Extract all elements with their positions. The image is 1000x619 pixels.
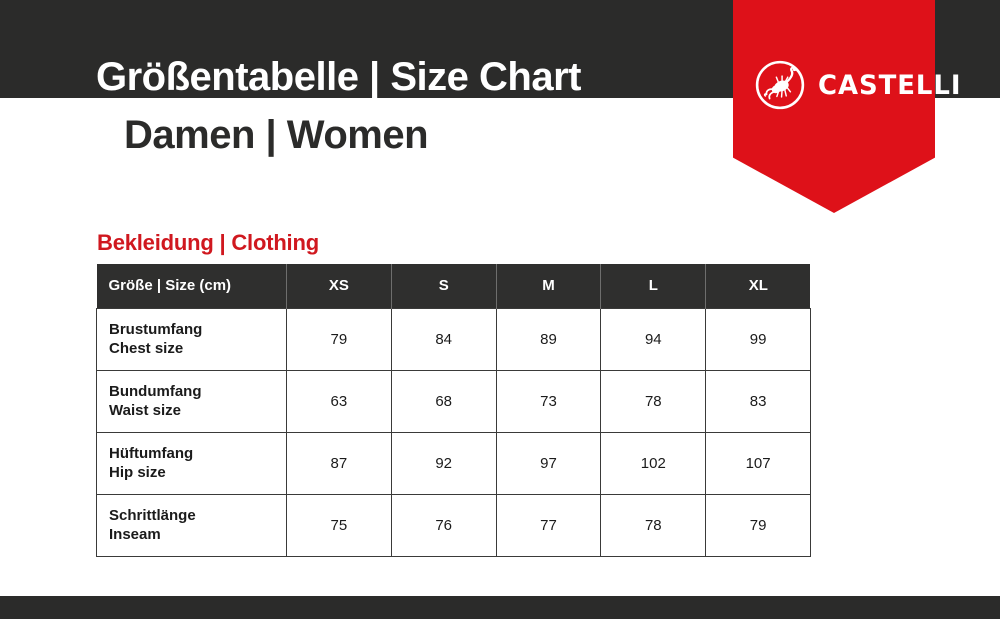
brand-wordmark: CASTELLI [818,72,962,99]
row-label-waist: Bundumfang Waist size [97,370,287,432]
row-label-en: Hip size [109,463,286,482]
cell-chest-l: 94 [601,308,706,370]
row-label-en: Chest size [109,339,286,358]
cell-chest-xl: 99 [706,308,811,370]
scorpion-circle-icon [754,59,806,111]
cell-inseam-l: 78 [601,494,706,556]
row-label-hip: Hüftumfang Hip size [97,432,287,494]
page-title: Größentabelle | Size Chart [96,55,581,100]
row-label-de: Hüftumfang [109,444,286,463]
table-row: Bundumfang Waist size 63 68 73 78 83 [97,370,811,432]
column-header-xs: XS [287,264,392,308]
cell-waist-s: 68 [391,370,496,432]
column-header-l: L [601,264,706,308]
table-body: Brustumfang Chest size 79 84 89 94 99 Bu… [97,308,811,556]
cell-chest-xs: 79 [287,308,392,370]
cell-inseam-s: 76 [391,494,496,556]
size-table: Größe | Size (cm) XS S M L XL Brustumfan… [96,264,811,557]
table-row: Brustumfang Chest size 79 84 89 94 99 [97,308,811,370]
row-label-de: Brustumfang [109,320,286,339]
cell-hip-xs: 87 [287,432,392,494]
row-label-chest: Brustumfang Chest size [97,308,287,370]
cell-inseam-xs: 75 [287,494,392,556]
cell-chest-s: 84 [391,308,496,370]
cell-waist-l: 78 [601,370,706,432]
column-header-measure: Größe | Size (cm) [97,264,287,308]
row-label-de: Bundumfang [109,382,286,401]
table-header: Größe | Size (cm) XS S M L XL [97,264,811,308]
table-header-row: Größe | Size (cm) XS S M L XL [97,264,811,308]
row-label-inseam: Schrittlänge Inseam [97,494,287,556]
column-header-s: S [391,264,496,308]
brand-logo: CASTELLI [733,57,935,113]
row-label-en: Inseam [109,525,286,544]
cell-hip-s: 92 [391,432,496,494]
size-table-container: Größe | Size (cm) XS S M L XL Brustumfan… [96,264,810,557]
cell-hip-l: 102 [601,432,706,494]
table-row: Schrittlänge Inseam 75 76 77 78 79 [97,494,811,556]
cell-waist-xs: 63 [287,370,392,432]
cell-hip-m: 97 [496,432,601,494]
cell-waist-xl: 83 [706,370,811,432]
cell-inseam-xl: 79 [706,494,811,556]
size-chart-page: Größentabelle | Size Chart Damen | Women [0,0,1000,619]
row-label-de: Schrittlänge [109,506,286,525]
table-row: Hüftumfang Hip size 87 92 97 102 107 [97,432,811,494]
column-header-xl: XL [706,264,811,308]
cell-waist-m: 73 [496,370,601,432]
section-heading-clothing: Bekleidung | Clothing [97,230,319,256]
cell-hip-xl: 107 [706,432,811,494]
row-label-en: Waist size [109,401,286,420]
column-header-m: M [496,264,601,308]
cell-chest-m: 89 [496,308,601,370]
cell-inseam-m: 77 [496,494,601,556]
footer-band [0,596,1000,619]
page-subtitle: Damen | Women [124,113,428,158]
